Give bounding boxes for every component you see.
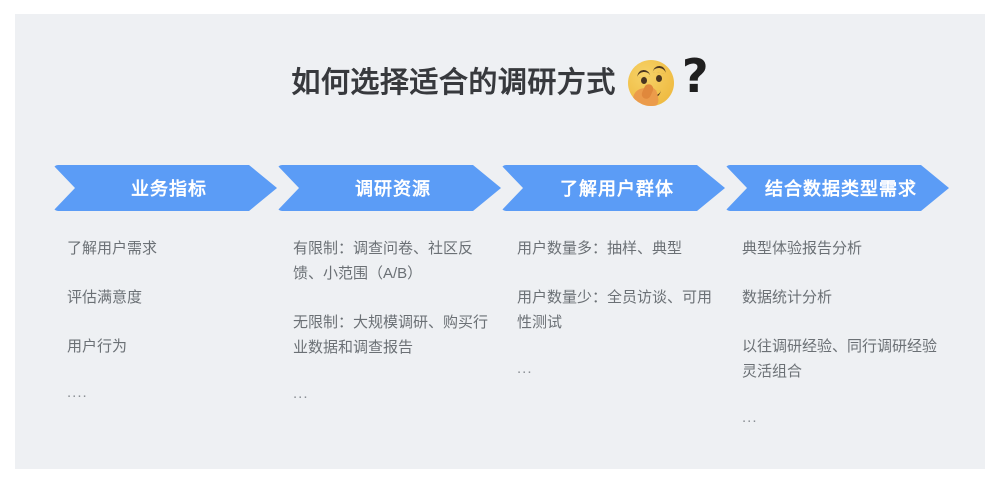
column-ellipsis: ... <box>742 408 949 428</box>
thinking-face-icon <box>628 60 674 106</box>
column-ellipsis: ... <box>517 359 725 379</box>
column-paragraph: 了解用户需求 <box>67 236 263 261</box>
column-paragraph: 有限制：调查问卷、社区反馈、小范围（A/B） <box>293 236 489 286</box>
emoji-eye-right <box>656 75 662 82</box>
column-body: 了解用户需求 评估满意度 用户行为 .... <box>53 236 277 403</box>
column-body: 用户数量多：抽样、典型 用户数量少：全员访谈、可用性测试 ... <box>501 236 725 379</box>
column-body: 典型体验报告分析 数据统计分析 以往调研经验、同行调研经验灵活组合 ... <box>725 236 949 428</box>
column-business-metrics: 业务指标 了解用户需求 评估满意度 用户行为 .... <box>53 165 277 403</box>
column-paragraph: 无限制：大规模调研、购买行业数据和调查报告 <box>293 310 489 360</box>
emoji-eye-left <box>641 77 647 84</box>
page-title: 如何选择适合的调研方式 <box>291 69 616 98</box>
banner-research-resources[interactable]: 调研资源 <box>277 165 501 211</box>
banner-user-groups[interactable]: 了解用户群体 <box>501 165 725 211</box>
column-ellipsis: ... <box>293 384 501 404</box>
slide-title-row: 如何选择适合的调研方式 ? <box>15 60 985 106</box>
emoji-eyebrow-right <box>653 65 667 73</box>
column-paragraph: 以往调研经验、同行调研经验灵活组合 <box>742 334 938 384</box>
banner-label: 调研资源 <box>355 175 431 201</box>
emoji-face <box>628 60 674 106</box>
column-paragraph: 典型体验报告分析 <box>742 236 938 261</box>
column-paragraph: 评估满意度 <box>67 285 263 310</box>
column-user-groups: 了解用户群体 用户数量多：抽样、典型 用户数量少：全员访谈、可用性测试 ... <box>501 165 725 379</box>
column-data-type-needs: 结合数据类型需求 典型体验报告分析 数据统计分析 以往调研经验、同行调研经验灵活… <box>725 165 949 428</box>
banner-label: 业务指标 <box>131 175 207 201</box>
slide-canvas: 如何选择适合的调研方式 ? 业务指标 了解用户需求 评估满意度 用户行为 <box>15 14 985 469</box>
banner-data-type-needs[interactable]: 结合数据类型需求 <box>725 165 949 211</box>
column-paragraph: 用户数量多：抽样、典型 <box>517 236 713 261</box>
question-mark-icon: ? <box>682 53 709 99</box>
banner-label: 了解用户群体 <box>560 175 674 201</box>
column-research-resources: 调研资源 有限制：调查问卷、社区反馈、小范围（A/B） 无限制：大规模调研、购买… <box>277 165 501 404</box>
column-paragraph: 数据统计分析 <box>742 285 938 310</box>
column-body: 有限制：调查问卷、社区反馈、小范围（A/B） 无限制：大规模调研、购买行业数据和… <box>277 236 501 404</box>
columns-container: 业务指标 了解用户需求 评估满意度 用户行为 .... 调研资源 有限制：调查问… <box>15 165 985 465</box>
column-paragraph: 用户数量少：全员访谈、可用性测试 <box>517 285 713 335</box>
column-paragraph: 用户行为 <box>67 334 263 359</box>
column-ellipsis: .... <box>67 383 277 403</box>
banner-business-metrics[interactable]: 业务指标 <box>53 165 277 211</box>
banner-label: 结合数据类型需求 <box>765 175 917 201</box>
